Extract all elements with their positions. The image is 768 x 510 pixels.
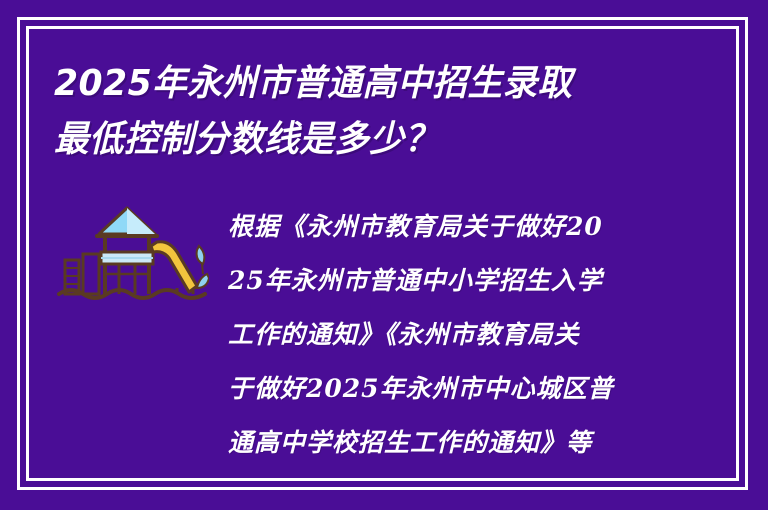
body-line-1: 根据《永州市教育局关于做好20 [228, 200, 640, 254]
body-line-4: 于做好2025年永州市中心城区普 [228, 362, 640, 416]
poster-canvas: 2025年永州市普通高中招生录取 最低控制分数线是多少？ [0, 0, 768, 510]
body-paragraph: 根据《永州市教育局关于做好20 25年永州市普通中小学招生入学 工作的通知》《永… [228, 200, 640, 470]
page-title: 2025年永州市普通高中招生录取 最低控制分数线是多少？ [54, 56, 694, 168]
body-line-3: 工作的通知》《永州市教育局关 [228, 308, 640, 362]
body-line-5: 通高中学校招生工作的通知》等 [228, 416, 640, 470]
page-title-line-1: 2025年永州市普通高中招生录取 [54, 56, 668, 112]
body-line-2: 25年永州市普通中小学招生入学 [228, 254, 640, 308]
page-title-line-2: 最低控制分数线是多少？ [54, 112, 668, 168]
playground-slide-icon [57, 198, 209, 308]
